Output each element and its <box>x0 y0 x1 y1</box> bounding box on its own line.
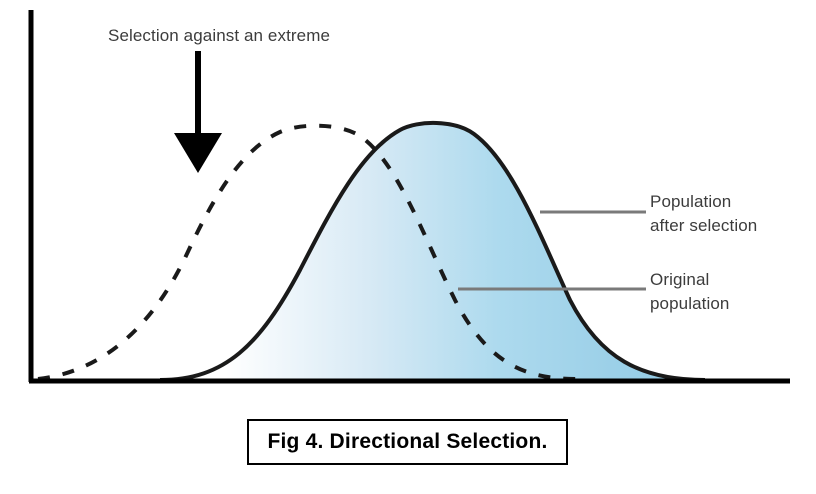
label-original-population-line2: population <box>650 294 729 313</box>
label-original-population-line1: Original <box>650 270 709 289</box>
figure-caption-box: Fig 4. Directional Selection. <box>247 419 568 465</box>
label-original-population: Originalpopulation <box>650 268 729 316</box>
label-population-after-selection-line2: after selection <box>650 216 757 235</box>
selection-arrow-head-icon <box>174 133 222 173</box>
figure-directional-selection: Selection against an extreme Populationa… <box>0 0 816 494</box>
label-population-after-selection: Populationafter selection <box>650 190 757 238</box>
label-population-after-selection-line1: Population <box>650 192 731 211</box>
annotation-selection-against-extreme: Selection against an extreme <box>108 24 330 48</box>
figure-caption-text: Fig 4. Directional Selection. <box>267 430 547 454</box>
